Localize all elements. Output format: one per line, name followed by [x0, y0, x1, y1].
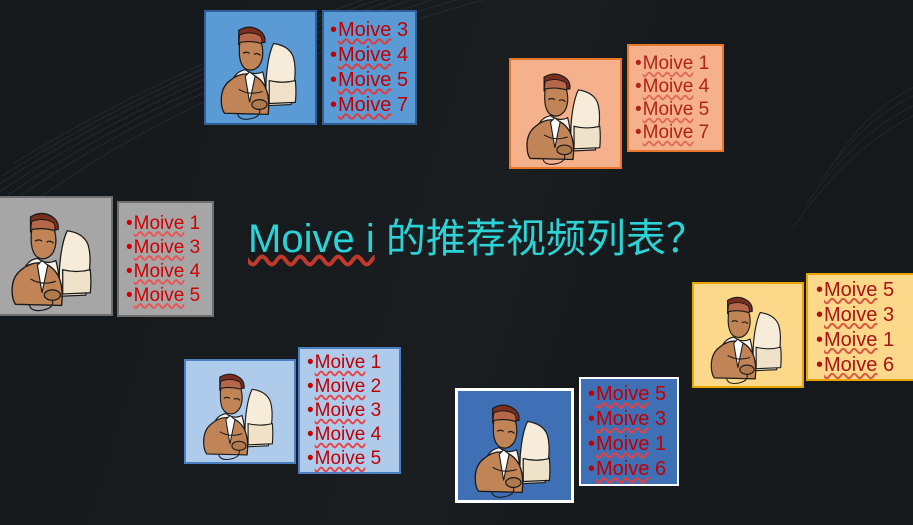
list-item-number: 1 — [649, 434, 666, 454]
bullet-icon: • — [330, 20, 337, 40]
list-item[interactable]: •Moive5 — [307, 449, 399, 468]
list-item[interactable]: •Moive7 — [635, 123, 722, 142]
list-item[interactable]: •Moive1 — [588, 434, 677, 454]
card-top-left-panel: •Moive3•Moive4•Moive5•Moive7 — [322, 10, 417, 125]
title-latin-text: Moive i — [248, 217, 375, 261]
list-item-number: 5 — [391, 70, 408, 90]
list-item-word: Moive — [824, 330, 877, 350]
list-item-number: 4 — [365, 425, 381, 444]
list-item[interactable]: •Moive6 — [816, 355, 913, 375]
list-item[interactable]: •Moive4 — [307, 425, 399, 444]
man-at-computer-icon — [694, 284, 802, 386]
card-bottom-right[interactable]: •Moive5•Moive3•Moive1•Moive6 — [455, 388, 679, 503]
bullet-icon: • — [816, 305, 823, 325]
bullet-icon: • — [307, 377, 314, 396]
man-at-computer-icon — [511, 60, 620, 167]
list-item-word: Moive — [315, 401, 366, 420]
list-item[interactable]: •Moive4 — [330, 45, 415, 65]
list-item[interactable]: •Moive1 — [126, 214, 212, 233]
list-item[interactable]: •Moive2 — [307, 377, 399, 396]
list-item-word: Moive — [338, 95, 391, 115]
bullet-icon: • — [635, 100, 642, 119]
list-item-word: Moive — [596, 459, 649, 479]
bullet-icon: • — [588, 409, 595, 429]
man-at-computer-icon — [458, 391, 571, 500]
list-item[interactable]: •Moive4 — [635, 77, 722, 96]
list-item-number: 4 — [693, 77, 709, 96]
list-item-word: Moive — [315, 377, 366, 396]
list-item-word: Moive — [315, 425, 366, 444]
list-item-word: Moive — [643, 77, 694, 96]
bullet-icon: • — [816, 280, 823, 300]
list-item-word: Moive — [338, 45, 391, 65]
list-item-word: Moive — [315, 449, 366, 468]
list-item-word: Moive — [824, 355, 877, 375]
list-item-number: 3 — [184, 238, 200, 257]
card-bottom-left-panel: •Moive1•Moive2•Moive3•Moive4•Moive5 — [298, 347, 401, 474]
list-item-number: 1 — [365, 353, 381, 372]
list-item-number: 4 — [391, 45, 408, 65]
list-item-number: 4 — [184, 262, 200, 281]
card-right-image — [692, 282, 804, 388]
card-bottom-left[interactable]: •Moive1•Moive2•Moive3•Moive4•Moive5 — [184, 359, 401, 474]
list-item[interactable]: •Moive3 — [588, 409, 677, 429]
list-item[interactable]: •Moive6 — [588, 459, 677, 479]
card-top-right-image — [509, 58, 622, 169]
list-item-number: 5 — [877, 280, 894, 300]
list-item[interactable]: •Moive5 — [816, 280, 913, 300]
card-top-left[interactable]: •Moive3•Moive4•Moive5•Moive7 — [204, 10, 417, 125]
page-title: Moive i 的推荐视频列表？ — [248, 206, 706, 264]
list-item[interactable]: •Moive1 — [635, 54, 722, 73]
list-item-number: 1 — [877, 330, 894, 350]
list-item-word: Moive — [596, 434, 649, 454]
list-item-word: Moive — [134, 262, 185, 281]
bullet-icon: • — [588, 384, 595, 404]
card-right[interactable]: •Moive5•Moive3•Moive1•Moive6 — [692, 282, 913, 388]
list-item[interactable]: •Moive4 — [126, 262, 212, 281]
card-left[interactable]: •Moive1•Moive3•Moive4•Moive5 — [0, 196, 214, 317]
list-item-number: 5 — [649, 384, 666, 404]
bullet-icon: • — [307, 401, 314, 420]
card-bottom-right-image — [455, 388, 574, 503]
card-left-panel: •Moive1•Moive3•Moive4•Moive5 — [117, 201, 214, 317]
list-item-word: Moive — [338, 20, 391, 40]
bullet-icon: • — [330, 70, 337, 90]
list-item-number: 3 — [365, 401, 381, 420]
bullet-icon: • — [635, 54, 642, 73]
card-bottom-right-panel: •Moive5•Moive3•Moive1•Moive6 — [579, 377, 679, 486]
list-item-word: Moive — [596, 409, 649, 429]
list-item-number: 2 — [365, 377, 381, 396]
list-item-number: 1 — [184, 214, 200, 233]
list-item[interactable]: •Moive1 — [816, 330, 913, 350]
bullet-icon: • — [588, 459, 595, 479]
list-item-word: Moive — [134, 238, 185, 257]
list-item[interactable]: •Moive3 — [816, 305, 913, 325]
list-item[interactable]: •Moive1 — [307, 353, 399, 372]
list-item-word: Moive — [596, 384, 649, 404]
bullet-icon: • — [126, 238, 133, 257]
list-item-number: 7 — [693, 123, 709, 142]
list-item-word: Moive — [134, 286, 185, 305]
list-item-number: 5 — [365, 449, 381, 468]
bullet-icon: • — [126, 286, 133, 305]
list-item-number: 6 — [649, 459, 666, 479]
card-bottom-left-image — [184, 359, 296, 464]
man-at-computer-icon — [0, 198, 111, 314]
list-item[interactable]: •Moive3 — [307, 401, 399, 420]
list-item-number: 3 — [877, 305, 894, 325]
bullet-icon: • — [330, 45, 337, 65]
card-top-right[interactable]: •Moive1•Moive4•Moive5•Moive7 — [509, 58, 724, 169]
bullet-icon: • — [126, 262, 133, 281]
bullet-icon: • — [588, 434, 595, 454]
bullet-icon: • — [816, 330, 823, 350]
list-item[interactable]: •Moive7 — [330, 95, 415, 115]
bullet-icon: • — [330, 95, 337, 115]
card-top-left-image — [204, 10, 317, 125]
list-item-number: 5 — [184, 286, 200, 305]
bullet-icon: • — [307, 449, 314, 468]
man-at-computer-icon — [186, 361, 294, 462]
card-left-image — [0, 196, 113, 316]
list-item-word: Moive — [338, 70, 391, 90]
list-item-number: 3 — [391, 20, 408, 40]
card-right-panel: •Moive5•Moive3•Moive1•Moive6 — [806, 273, 913, 381]
list-item[interactable]: •Moive5 — [635, 100, 722, 119]
bullet-icon: • — [126, 214, 133, 233]
bullet-icon: • — [635, 123, 642, 142]
list-item-word: Moive — [315, 353, 366, 372]
list-item-word: Moive — [824, 280, 877, 300]
list-item[interactable]: •Moive3 — [126, 238, 212, 257]
list-item-number: 7 — [391, 95, 408, 115]
title-cjk-text: 的推荐视频列表？ — [375, 217, 706, 261]
list-item-number: 1 — [693, 54, 709, 73]
list-item-word: Moive — [643, 54, 694, 73]
bullet-icon: • — [635, 77, 642, 96]
list-item-word: Moive — [824, 305, 877, 325]
list-item[interactable]: •Moive5 — [588, 384, 677, 404]
man-at-computer-icon — [206, 12, 315, 123]
list-item[interactable]: •Moive5 — [126, 286, 212, 305]
list-item[interactable]: •Moive5 — [330, 70, 415, 90]
list-item-number: 5 — [693, 100, 709, 119]
list-item-number: 6 — [877, 355, 894, 375]
bullet-icon: • — [816, 355, 823, 375]
list-item-word: Moive — [643, 123, 694, 142]
list-item-word: Moive — [643, 100, 694, 119]
bullet-icon: • — [307, 353, 314, 372]
bullet-icon: • — [307, 425, 314, 444]
list-item-number: 3 — [649, 409, 666, 429]
card-top-right-panel: •Moive1•Moive4•Moive5•Moive7 — [627, 44, 724, 152]
list-item[interactable]: •Moive3 — [330, 20, 415, 40]
list-item-word: Moive — [134, 214, 185, 233]
slide-canvas: Moive i 的推荐视频列表？ — [0, 0, 913, 525]
